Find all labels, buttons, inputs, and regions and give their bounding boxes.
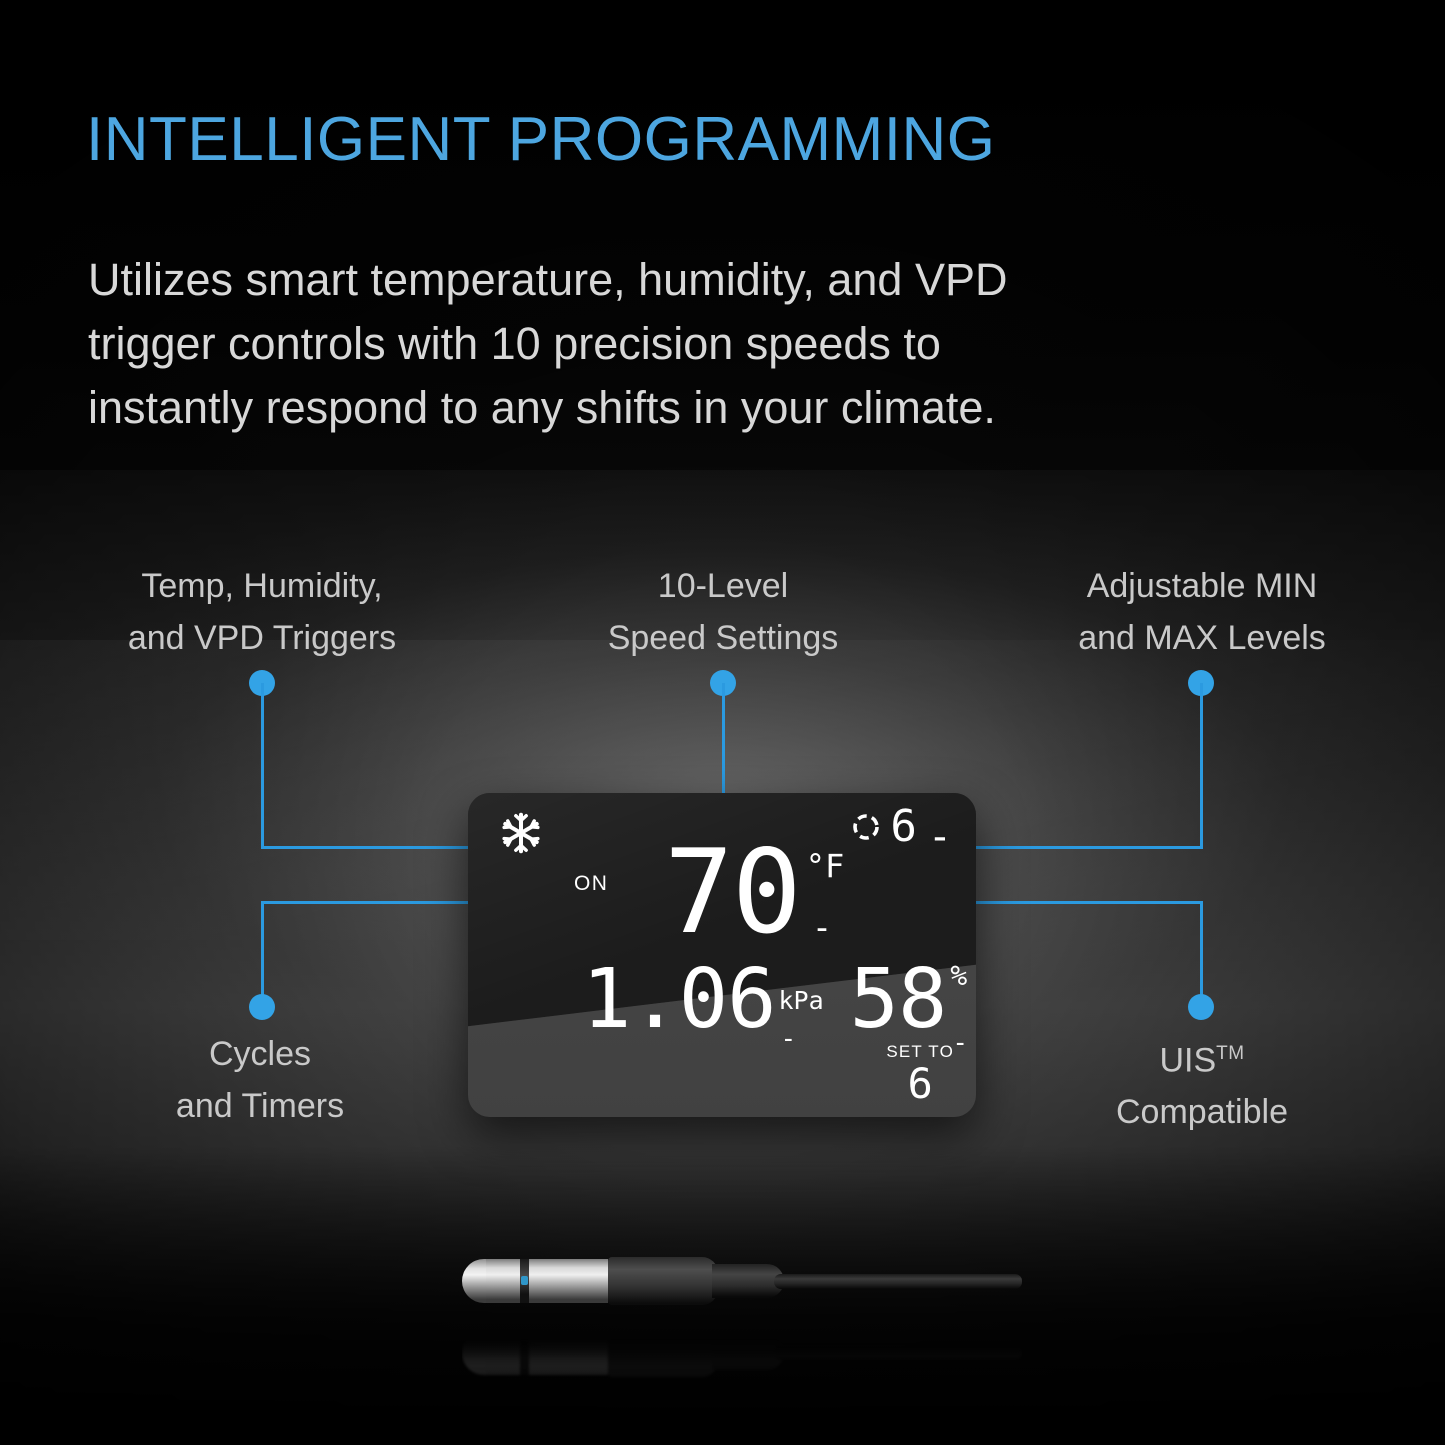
callout-line-1: Temp, Humidity, [60,560,464,612]
probe-body [486,1259,608,1303]
vpd-value: 1.06 [582,963,775,1037]
connector-line-uis-vertical [1200,901,1203,1005]
connector-line-uis-horizontal [958,901,1203,904]
callout-line-2: Speed Settings [563,612,883,664]
callout-cycles-and-timers: Cycles and Timers [100,1028,420,1132]
connector-line-speed-settings-vertical [722,683,725,798]
fan-level-indicator[interactable]: 6 - [851,807,952,847]
callout-temp-humidity-vpd-triggers: Temp, Humidity, and VPD Triggers [60,560,464,664]
connector-line-min-max-horizontal [958,846,1203,849]
connector-dot-cycles [249,994,275,1020]
status-badge-on: ON [574,872,608,896]
temperature-value: 70 [664,841,800,945]
page-title: INTELLIGENT PROGRAMMING [86,104,995,175]
callout-line-1: Cycles [100,1028,420,1080]
callout-line-1: UISTM [1042,1028,1362,1086]
humidity-value: 58 [850,963,947,1037]
connector-dot-uis [1188,994,1214,1020]
callout-line-2: Compatible [1042,1086,1362,1138]
vpd-unit: kPa [778,989,823,1013]
connector-line-temp-triggers-vertical [261,683,264,849]
description-line-3: instantly respond to any shifts in your … [88,376,1248,440]
callout-line-2: and MAX Levels [1000,612,1404,664]
connector-line-temp-triggers-horizontal [261,846,486,849]
connector-line-min-max-vertical [1200,683,1203,849]
probe-collar [608,1257,718,1305]
callout-line-1: 10-Level [563,560,883,612]
temperature-dash: - [812,913,832,943]
callout-speed-settings: 10-Level Speed Settings [563,560,883,664]
connector-line-cycles-horizontal [261,901,486,904]
humidity-unit: % [950,963,967,989]
temperature-readout[interactable]: 70 °F - [664,841,844,945]
probe-reflection [462,1320,1022,1386]
set-to-readout[interactable]: SET TO 6 [886,1042,954,1105]
callout-line-1: Adjustable MIN [1000,560,1404,612]
callout-line-2: and VPD Triggers [60,612,464,664]
callout-uis-compatible: UISTM Compatible [1042,1028,1362,1138]
temperature-unit: °F [806,851,845,881]
humidity-dash: - [952,1033,968,1053]
fan-level-dash: - [928,820,952,854]
fan-level-value: 6 [890,807,917,847]
callout-line-2: and Timers [100,1080,420,1132]
temperature-humidity-sensor-probe [462,1248,1022,1320]
lcd-controller-display[interactable]: 6 - ON 70 °F - 1.06 kPa - 58 % - [468,793,976,1117]
description-line-2: trigger controls with 10 precision speed… [88,312,1248,376]
fan-ring-icon [851,812,881,842]
uis-text: UIS [1159,1041,1216,1079]
snowflake-icon [498,810,544,856]
set-to-value: 6 [886,1063,954,1105]
probe-led-indicator [521,1276,528,1285]
page-description: Utilizes smart temperature, humidity, an… [88,248,1248,440]
callout-min-max-levels: Adjustable MIN and MAX Levels [1000,560,1404,664]
vpd-humidity-readout[interactable]: 1.06 kPa - 58 % - [582,963,968,1053]
vpd-dash: - [780,1029,796,1049]
description-line-1: Utilizes smart temperature, humidity, an… [88,248,1248,312]
sensor-cable [774,1274,1022,1289]
connector-line-cycles-vertical [261,901,264,1005]
trademark-mark: TM [1216,1043,1244,1064]
